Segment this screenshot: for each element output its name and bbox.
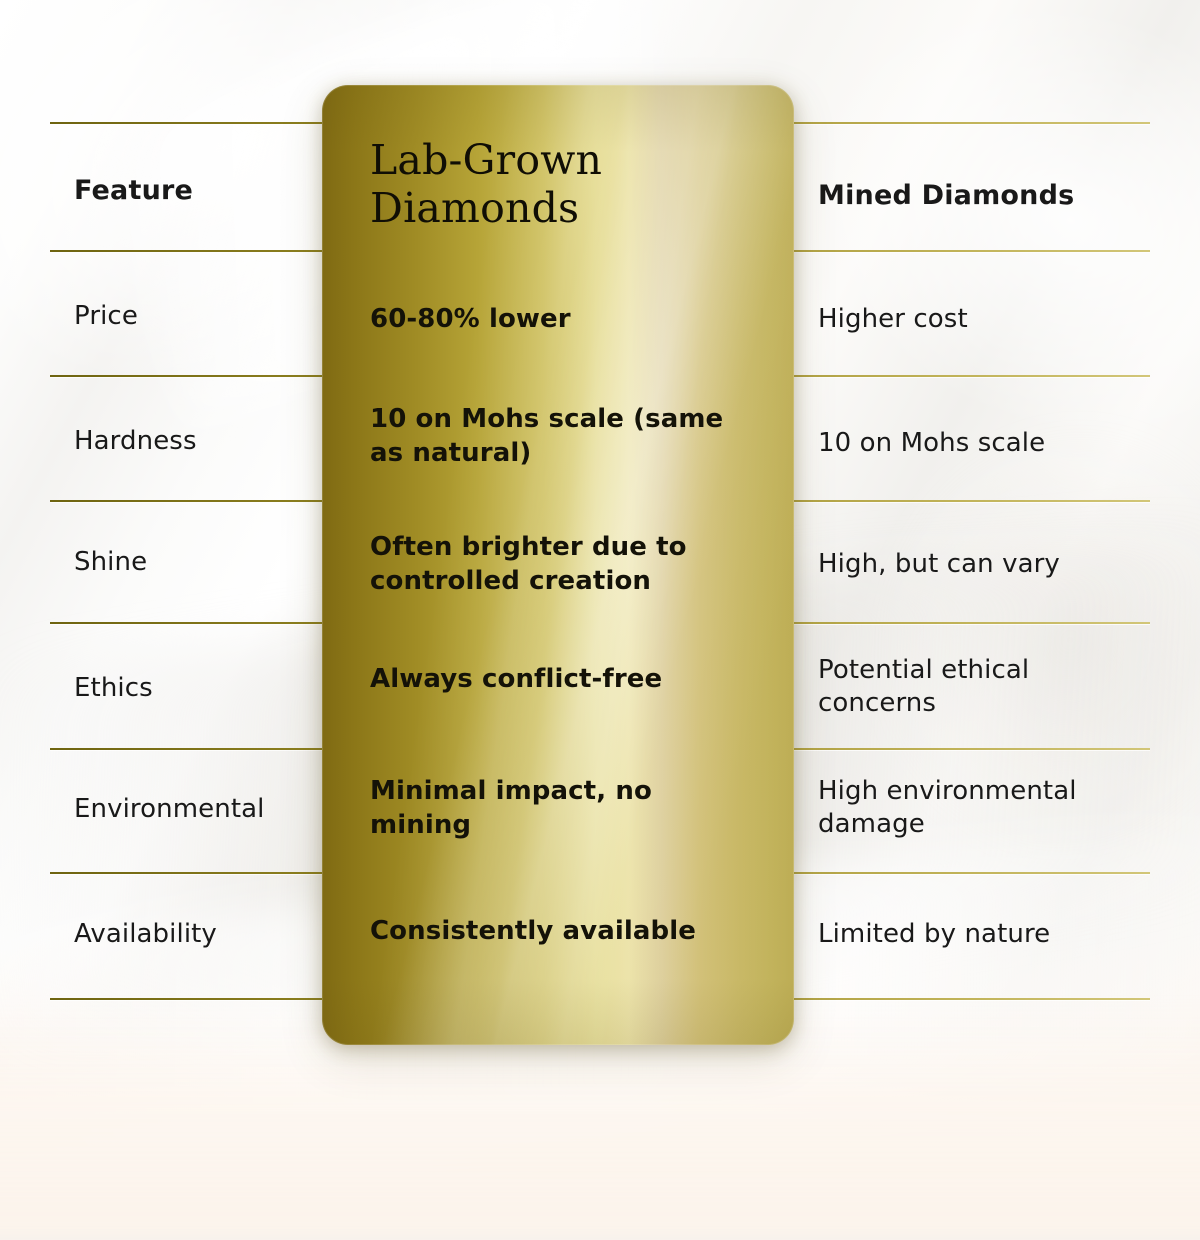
feature-label-ethics: Ethics bbox=[74, 672, 310, 705]
mined-value-hardness: 10 on Mohs scale bbox=[818, 427, 1150, 460]
comparison-table: Feature Price Hardness Shine Ethics Envi… bbox=[0, 0, 1200, 1200]
mined-value-price: Higher cost bbox=[818, 303, 1150, 336]
feature-label-availability: Availability bbox=[74, 918, 310, 951]
lab-grown-value-price: 60-80% lower bbox=[370, 303, 756, 337]
column-header-mined-diamonds: Mined Diamonds bbox=[818, 179, 1150, 214]
feature-label-hardness: Hardness bbox=[74, 425, 310, 458]
mined-value-shine: High, but can vary bbox=[818, 548, 1150, 581]
mined-value-ethics: Potential ethical concerns bbox=[818, 654, 1150, 721]
lab-grown-value-ethics: Always conflict-free bbox=[370, 663, 756, 697]
feature-label-shine: Shine bbox=[74, 546, 310, 579]
mined-value-availability: Limited by nature bbox=[818, 918, 1150, 951]
lab-grown-value-availability: Consistently available bbox=[370, 915, 756, 949]
lab-grown-value-environmental: Minimal impact, no mining bbox=[370, 775, 756, 843]
column-header-feature: Feature bbox=[74, 174, 310, 208]
lab-grown-value-hardness: 10 on Mohs scale (same as natural) bbox=[370, 403, 756, 471]
card-title-line2: Diamonds bbox=[370, 185, 756, 233]
mined-value-environmental: High environmental damage bbox=[818, 775, 1150, 842]
feature-label-price: Price bbox=[74, 300, 310, 333]
lab-grown-diamonds-card: Lab-Grown Diamonds 60-80% lower 10 on Mo… bbox=[322, 85, 794, 1045]
card-title-line1: Lab-Grown bbox=[370, 137, 756, 185]
feature-label-environmental: Environmental bbox=[74, 793, 310, 826]
lab-grown-value-shine: Often brighter due to controlled creatio… bbox=[370, 531, 756, 599]
